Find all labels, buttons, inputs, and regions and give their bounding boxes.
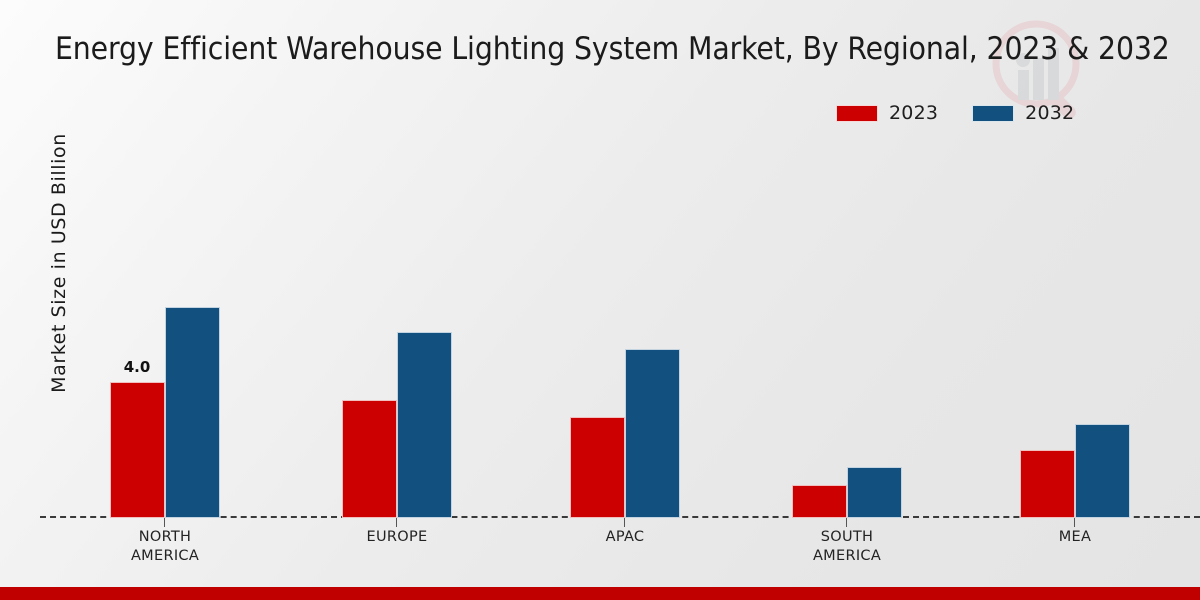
- bar-2023[interactable]: [792, 485, 847, 518]
- legend-swatch-2023: [836, 105, 878, 122]
- category-label-line: APAC: [510, 528, 740, 547]
- bar-2023[interactable]: [570, 417, 625, 518]
- bar-2023[interactable]: [342, 400, 397, 518]
- x-axis-tick: [624, 518, 625, 527]
- x-axis-tick: [1074, 518, 1075, 527]
- legend-swatch-2032: [972, 105, 1014, 122]
- x-axis-category-label: APAC: [510, 528, 740, 547]
- x-axis-tick: [396, 518, 397, 527]
- legend-label-2023: 2023: [889, 102, 938, 124]
- bar-2032[interactable]: [397, 332, 452, 518]
- legend-item-2032[interactable]: 2032: [972, 102, 1074, 124]
- bottom-accent-bar: [0, 587, 1200, 600]
- chart-legend: 2023 2032: [836, 102, 1074, 124]
- category-label-line: NORTH: [50, 528, 280, 547]
- x-axis-category-label: NORTHAMERICA: [50, 528, 280, 566]
- bar-2032[interactable]: [625, 349, 680, 518]
- category-label-line: SOUTH: [732, 528, 962, 547]
- category-label-line: AMERICA: [50, 547, 280, 566]
- legend-label-2032: 2032: [1025, 102, 1074, 124]
- category-label-line: MEA: [960, 528, 1190, 547]
- x-axis-category-label: EUROPE: [282, 528, 512, 547]
- legend-item-2023[interactable]: 2023: [836, 102, 938, 124]
- x-axis-category-label: SOUTHAMERICA: [732, 528, 962, 566]
- category-label-line: EUROPE: [282, 528, 512, 547]
- chart-title: Energy Efficient Warehouse Lighting Syst…: [55, 32, 1200, 67]
- bar-2032[interactable]: [1075, 424, 1130, 518]
- bar-2023[interactable]: [1020, 450, 1075, 518]
- bar-value-label: 4.0: [96, 358, 178, 376]
- x-axis-tick: [846, 518, 847, 527]
- x-axis-category-label: MEA: [960, 528, 1190, 547]
- bar-2023[interactable]: [110, 382, 165, 518]
- chart-canvas: Energy Efficient Warehouse Lighting Syst…: [0, 0, 1200, 600]
- category-label-line: AMERICA: [732, 547, 962, 566]
- bar-2032[interactable]: [847, 467, 902, 518]
- plot-area: 4.0NORTHAMERICAEUROPEAPACSOUTHAMERICAMEA: [40, 140, 1200, 518]
- bar-2032[interactable]: [165, 307, 220, 518]
- x-axis-tick: [164, 518, 165, 527]
